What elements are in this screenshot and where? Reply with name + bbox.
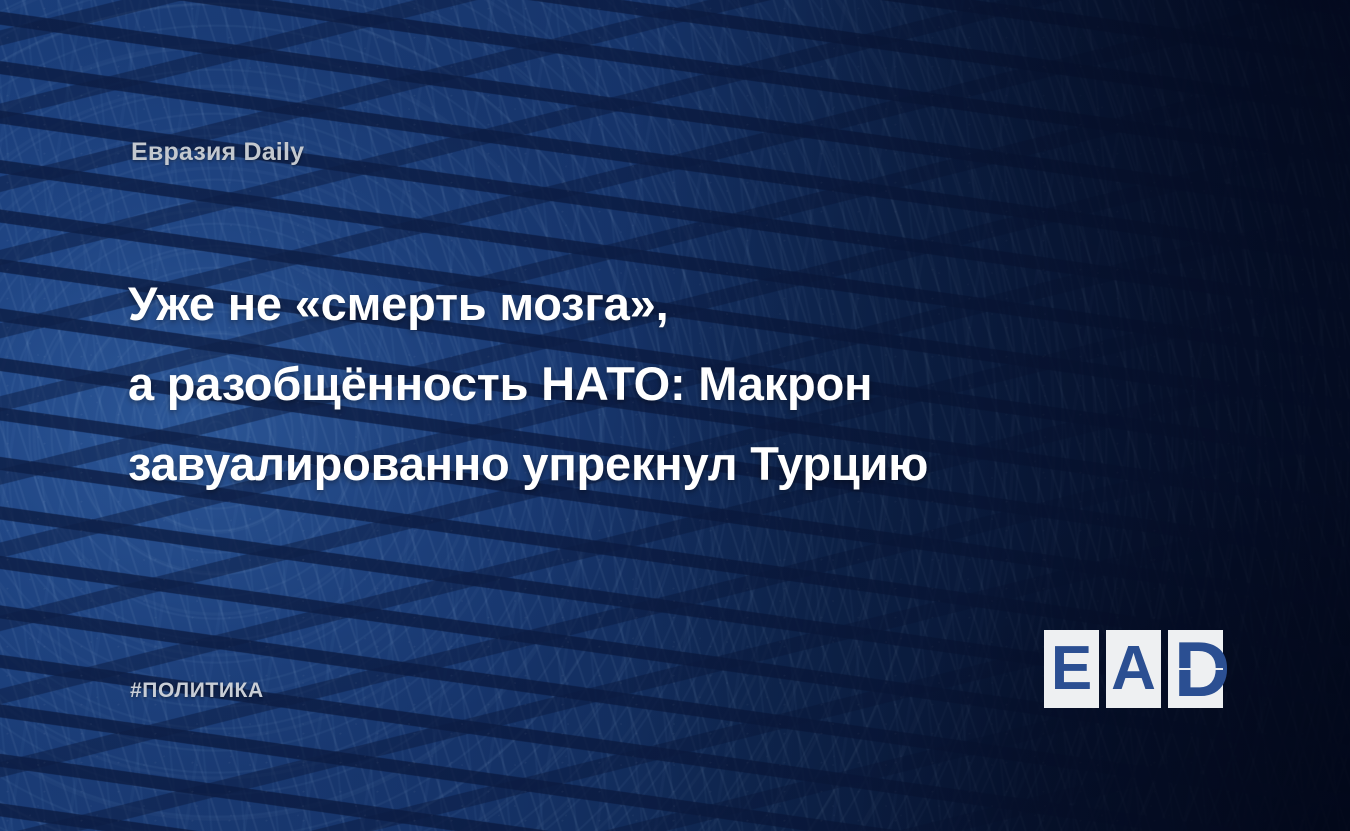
logo-tile-d: D — [1168, 630, 1223, 708]
cover-content: Евразия Daily Уже не «смерть мозга», а р… — [0, 0, 1350, 831]
logo-letter-a: A — [1106, 630, 1161, 708]
logo-tile-seam — [1168, 668, 1223, 670]
headline-line-2: а разобщённость НАТО: Макрон — [128, 344, 1128, 424]
logo-tile-a: A — [1106, 630, 1161, 708]
logo-tile-e: E — [1044, 630, 1099, 708]
logo-letter-e: E — [1044, 630, 1099, 708]
headline: Уже не «смерть мозга», а разобщённость Н… — [128, 264, 1128, 504]
category-hashtag[interactable]: #ПОЛИТИКА — [130, 679, 264, 703]
ead-logo[interactable]: E A D — [1044, 630, 1224, 708]
brand-name: Евразия Daily — [131, 138, 304, 167]
headline-line-1: Уже не «смерть мозга», — [128, 264, 1128, 344]
headline-line-3: завуалированно упрекнул Турцию — [128, 424, 1128, 504]
news-cover-card: Евразия Daily Уже не «смерть мозга», а р… — [0, 0, 1350, 831]
